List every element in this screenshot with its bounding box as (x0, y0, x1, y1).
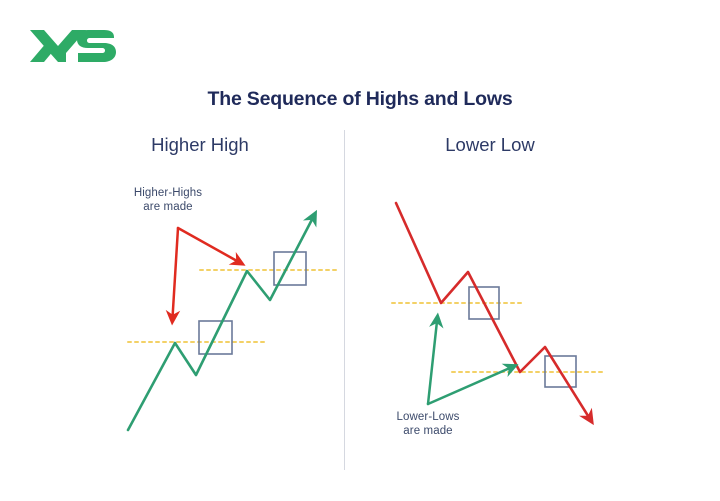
infographic-canvas: The Sequence of Highs and Lows Higher Hi… (0, 0, 720, 501)
annotation-arrow-higher-high-2 (178, 228, 238, 262)
trendline-higher-high (128, 218, 313, 430)
breakout-box-higher-high-2 (274, 252, 306, 285)
annotation-label-hh-line2: are made (108, 200, 228, 214)
trendline-lower-low (396, 203, 589, 418)
annotation-label-hh-line1: Higher-Highs (108, 186, 228, 200)
annotation-label-lower-lows: Lower-Lows are made (368, 410, 488, 438)
annotation-arrow-higher-high-1 (173, 228, 178, 317)
annotation-label-ll-line2: are made (368, 424, 488, 438)
chart-graphics (0, 0, 720, 501)
annotation-arrow-lower-low-2 (428, 368, 511, 404)
annotation-arrow-lower-low-1 (428, 321, 437, 404)
annotation-label-ll-line1: Lower-Lows (368, 410, 488, 424)
annotation-label-higher-highs: Higher-Highs are made (108, 186, 228, 214)
